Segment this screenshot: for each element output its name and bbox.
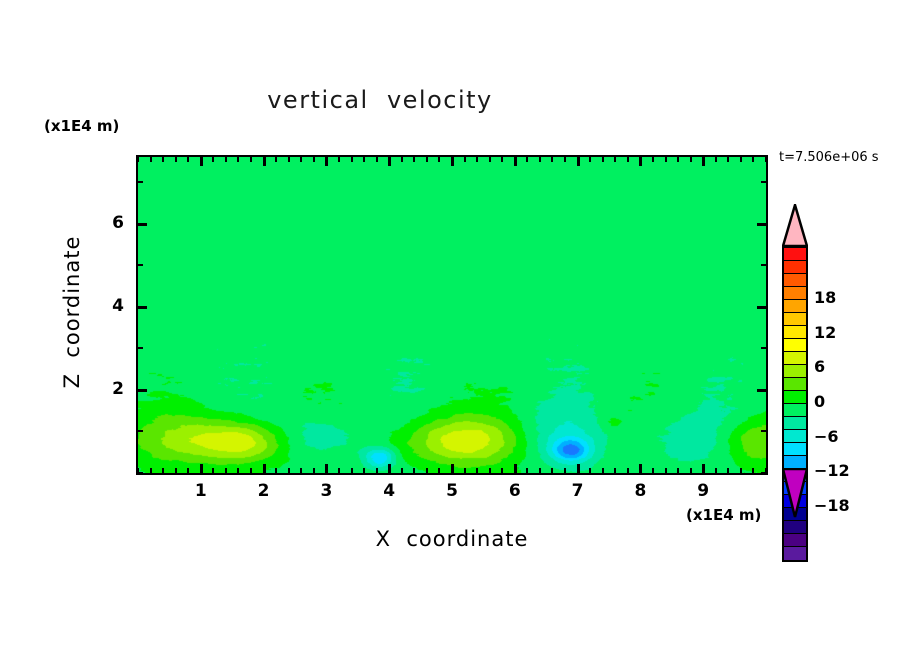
x-tick-minor (539, 468, 541, 473)
x-tick-minor (363, 468, 365, 473)
y-axis-unit-label: (x1E4 m) (44, 117, 119, 135)
x-tick-major-top (388, 157, 391, 166)
colorbar-band (784, 313, 806, 326)
x-tick-minor (677, 468, 679, 473)
x-tick-minor-top (652, 157, 654, 162)
colorbar-band (784, 547, 806, 560)
x-tick-label: 4 (374, 481, 404, 501)
x-tick-minor (413, 468, 415, 473)
x-tick-minor-top (539, 157, 541, 162)
y-tick-minor-right (761, 347, 766, 349)
x-tick-minor-top (489, 157, 491, 162)
x-tick-minor-top (426, 157, 428, 162)
x-tick-minor-top (740, 157, 742, 162)
x-tick-minor (300, 468, 302, 473)
colorbar-band (784, 443, 806, 456)
x-tick-minor (551, 468, 553, 473)
colorbar-tick-label: 18 (814, 288, 836, 307)
x-tick-minor-top (752, 157, 754, 162)
x-tick-minor-top (765, 157, 767, 162)
x-tick-minor-top (162, 157, 164, 162)
x-tick-minor (715, 468, 717, 473)
x-tick-minor (438, 468, 440, 473)
x-tick-major-top (263, 157, 266, 166)
x-tick-minor-top (288, 157, 290, 162)
y-tick-minor (138, 347, 143, 349)
x-tick-minor (464, 468, 466, 473)
x-tick-major (514, 464, 517, 473)
y-tick-minor-right (761, 430, 766, 432)
x-tick-minor (614, 468, 616, 473)
y-tick-label: 2 (94, 379, 124, 399)
x-tick-minor-top (677, 157, 679, 162)
x-tick-minor-top (589, 157, 591, 162)
colorbar-tick-label: −18 (814, 496, 850, 515)
x-tick-minor-top (237, 157, 239, 162)
x-tick-minor-top (363, 157, 365, 162)
x-tick-minor (426, 468, 428, 473)
y-tick-major-right (757, 306, 766, 309)
x-tick-minor (275, 468, 277, 473)
x-tick-minor (752, 468, 754, 473)
y-tick-minor (138, 472, 143, 474)
colorbar-band (784, 430, 806, 443)
x-tick-major-top (514, 157, 517, 166)
x-tick-minor-top (175, 157, 177, 162)
colorbar-band (784, 378, 806, 391)
y-tick-minor (138, 430, 143, 432)
velocity-field-canvas (138, 157, 766, 473)
y-axis-title: Z coordinate (60, 212, 84, 412)
x-tick-minor-top (212, 157, 214, 162)
x-tick-minor (351, 468, 353, 473)
x-tick-minor (225, 468, 227, 473)
y-tick-major (138, 306, 147, 309)
colorbar-tick-label: 12 (814, 323, 836, 342)
x-tick-minor-top (300, 157, 302, 162)
x-tick-minor-top (602, 157, 604, 162)
colorbar-under-arrow-icon (782, 468, 808, 518)
x-tick-major-top (702, 157, 705, 166)
x-tick-minor-top (187, 157, 189, 162)
y-tick-minor (138, 181, 143, 183)
x-tick-minor-top (338, 157, 340, 162)
colorbar-band (784, 352, 806, 365)
x-tick-minor (627, 468, 629, 473)
x-tick-minor-top (727, 157, 729, 162)
x-tick-minor (652, 468, 654, 473)
x-tick-minor (212, 468, 214, 473)
y-tick-major-right (757, 389, 766, 392)
colorbar-band (784, 261, 806, 274)
colorbar-band (784, 300, 806, 313)
x-tick-major (577, 464, 580, 473)
x-tick-minor (187, 468, 189, 473)
colorbar-band (784, 326, 806, 339)
x-tick-label: 2 (249, 481, 279, 501)
x-tick-minor (376, 468, 378, 473)
colorbar-band (784, 248, 806, 261)
colorbar-band (784, 404, 806, 417)
colorbar-over-arrow-icon (782, 204, 808, 247)
x-tick-label: 5 (437, 481, 467, 501)
x-tick-major (325, 464, 328, 473)
x-tick-label: 1 (186, 481, 216, 501)
x-tick-major-top (200, 157, 203, 166)
x-tick-minor (250, 468, 252, 473)
x-tick-minor-top (551, 157, 553, 162)
x-tick-minor-top (627, 157, 629, 162)
x-tick-minor-top (150, 157, 152, 162)
y-tick-minor-right (761, 472, 766, 474)
x-tick-minor-top (564, 157, 566, 162)
x-tick-minor (740, 468, 742, 473)
x-tick-label: 8 (625, 481, 655, 501)
x-tick-minor-top (438, 157, 440, 162)
colorbar-band (784, 521, 806, 534)
x-tick-minor (501, 468, 503, 473)
y-tick-label: 6 (94, 213, 124, 233)
x-tick-minor (401, 468, 403, 473)
colorbar-band (784, 339, 806, 352)
x-tick-minor (690, 468, 692, 473)
x-tick-major (388, 464, 391, 473)
colorbar-tick-label: 6 (814, 357, 825, 376)
colorbar-band (784, 274, 806, 287)
colorbar-tick-label: −6 (814, 427, 839, 446)
colorbar-band (784, 365, 806, 378)
x-tick-minor (288, 468, 290, 473)
page-title: vertical velocity (0, 86, 760, 114)
x-tick-minor-top (413, 157, 415, 162)
x-tick-minor (602, 468, 604, 473)
x-tick-minor (476, 468, 478, 473)
x-tick-minor-top (225, 157, 227, 162)
x-tick-minor (162, 468, 164, 473)
x-tick-minor-top (526, 157, 528, 162)
x-tick-minor (564, 468, 566, 473)
x-tick-minor-top (401, 157, 403, 162)
x-tick-minor (237, 468, 239, 473)
x-tick-major (451, 464, 454, 473)
x-tick-minor (727, 468, 729, 473)
colorbar-band (784, 534, 806, 547)
x-tick-minor (526, 468, 528, 473)
y-tick-minor (138, 264, 143, 266)
x-tick-major (702, 464, 705, 473)
x-tick-minor-top (715, 157, 717, 162)
x-tick-major-top (451, 157, 454, 166)
x-tick-minor (338, 468, 340, 473)
y-tick-minor-right (761, 181, 766, 183)
x-tick-minor (175, 468, 177, 473)
x-tick-minor-top (464, 157, 466, 162)
x-tick-minor-top (690, 157, 692, 162)
y-tick-major (138, 223, 147, 226)
x-tick-minor-top (376, 157, 378, 162)
colorbar-band (784, 417, 806, 430)
x-tick-minor (665, 468, 667, 473)
x-tick-major-top (577, 157, 580, 166)
x-axis-title: X coordinate (136, 527, 768, 551)
x-tick-minor (150, 468, 152, 473)
x-tick-minor-top (501, 157, 503, 162)
contour-plot-area (136, 155, 768, 475)
x-tick-minor (589, 468, 591, 473)
y-tick-major-right (757, 223, 766, 226)
timestamp-annotation: t=7.506e+06 s (779, 150, 879, 165)
x-tick-major (263, 464, 266, 473)
x-tick-label: 6 (500, 481, 530, 501)
x-tick-major-top (639, 157, 642, 166)
x-tick-label: 3 (311, 481, 341, 501)
x-tick-minor-top (351, 157, 353, 162)
colorbar-tick-label: −12 (814, 461, 850, 480)
colorbar-band (784, 391, 806, 404)
x-tick-minor (313, 468, 315, 473)
x-tick-minor-top (665, 157, 667, 162)
x-tick-minor-top (313, 157, 315, 162)
colorbar: 181260−6−12−18 (778, 204, 898, 516)
x-tick-label: 9 (688, 481, 718, 501)
x-tick-minor-top (275, 157, 277, 162)
y-tick-minor-right (761, 264, 766, 266)
x-tick-major (200, 464, 203, 473)
colorbar-tick-label: 0 (814, 392, 825, 411)
x-tick-major-top (325, 157, 328, 166)
x-tick-label: 7 (563, 481, 593, 501)
x-tick-minor-top (614, 157, 616, 162)
x-tick-minor (489, 468, 491, 473)
x-axis-unit-label: (x1E4 m) (686, 506, 761, 524)
colorbar-band (784, 287, 806, 300)
y-tick-label: 4 (94, 296, 124, 316)
x-tick-major (639, 464, 642, 473)
y-tick-major (138, 389, 147, 392)
x-tick-minor-top (137, 157, 139, 162)
x-tick-minor-top (476, 157, 478, 162)
x-tick-minor-top (250, 157, 252, 162)
